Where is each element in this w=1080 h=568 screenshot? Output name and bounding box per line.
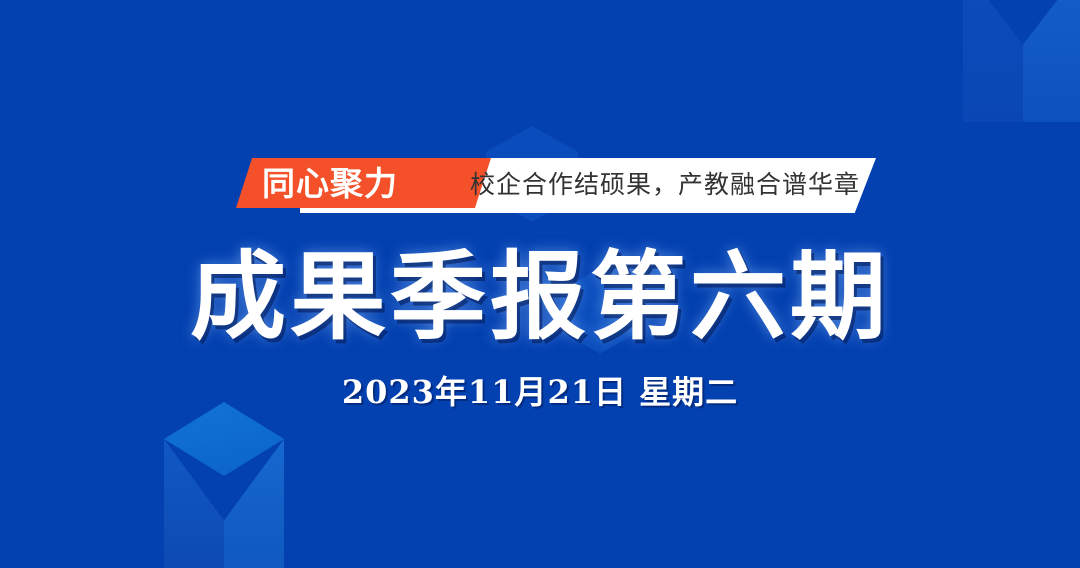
ribbon: 同心聚力 校企合作结硕果，产教融合谱华章 (0, 158, 1080, 216)
page-title: 成果季报第六期 (0, 243, 1080, 351)
badge-label: 同心聚力 (262, 159, 398, 209)
poster-banner: 同心聚力 校企合作结硕果，产教融合谱华章 成果季报第六期 2023年11月21日… (0, 0, 1080, 568)
cube-face-right (224, 439, 284, 568)
cube-icon-top-right (963, 0, 1080, 122)
ribbon-orange-badge: 同心聚力 (236, 158, 491, 208)
cube-icon-bottom-left (164, 402, 284, 568)
ribbon-subtitle: 校企合作结硕果，产教融合谱华章 (470, 158, 860, 213)
date-line: 2023年11月21日 星期二 (0, 370, 1080, 414)
cube-face-left (164, 439, 224, 568)
cube-face-left (963, 0, 1023, 122)
cube-face-top (963, 0, 1080, 18)
cube-face-right (1023, 0, 1080, 122)
